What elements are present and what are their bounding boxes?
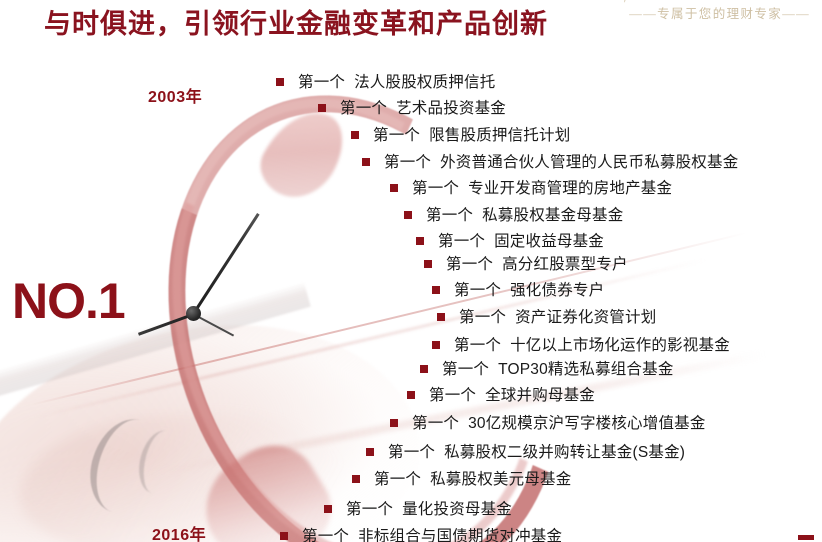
achievement-rank-label: 第一个 bbox=[459, 305, 506, 327]
achievement-row: 第一个私募股权基金母基金 bbox=[404, 203, 623, 225]
achievement-rank-label: 第一个 bbox=[454, 278, 501, 300]
achievement-rank-label: 第一个 bbox=[442, 357, 489, 379]
bullet-square-icon bbox=[366, 448, 374, 456]
achievement-text: 艺术品投资基金 bbox=[396, 96, 506, 118]
achievement-rank-label: 第一个 bbox=[412, 411, 459, 433]
achievement-row: 第一个私募股权美元母基金 bbox=[352, 467, 571, 489]
corner-accent-mark bbox=[798, 535, 814, 540]
bullet-square-icon bbox=[390, 419, 398, 427]
achievement-text: 全球并购母基金 bbox=[485, 383, 595, 405]
achievement-text: 法人股股权质押信托 bbox=[354, 70, 495, 92]
achievement-text: 30亿规模京沪写字楼核心增值基金 bbox=[468, 411, 705, 433]
bullet-square-icon bbox=[432, 286, 440, 294]
achievement-row: 第一个外资普通合伙人管理的人民币私募股权基金 bbox=[362, 150, 738, 172]
achievement-text: 非标组合与国债期货对冲基金 bbox=[358, 524, 562, 542]
bullet-square-icon bbox=[324, 505, 332, 513]
achievement-row: 第一个固定收益母基金 bbox=[416, 229, 604, 251]
bullet-square-icon bbox=[437, 313, 445, 321]
achievement-row: 第一个私募股权二级并购转让基金(S基金) bbox=[366, 440, 685, 462]
achievement-rank-label: 第一个 bbox=[454, 333, 501, 355]
achievement-rank-label: 第一个 bbox=[384, 150, 431, 172]
achievement-text: 强化债券专户 bbox=[510, 278, 604, 300]
achievement-text: 外资普通合伙人管理的人民币私募股权基金 bbox=[440, 150, 738, 172]
achievement-row: 第一个法人股股权质押信托 bbox=[276, 70, 495, 92]
achievement-rank-label: 第一个 bbox=[302, 524, 349, 542]
achievement-row: 第一个30亿规模京沪写字楼核心增值基金 bbox=[390, 411, 706, 433]
achievement-rank-label: 第一个 bbox=[374, 467, 421, 489]
achievement-rank-label: 第一个 bbox=[446, 252, 493, 274]
bullet-square-icon bbox=[404, 211, 412, 219]
achievement-rank-label: 第一个 bbox=[388, 440, 435, 462]
achievement-list: 第一个法人股股权质押信托第一个艺术品投资基金第一个限售股质押信托计划第一个外资普… bbox=[0, 0, 822, 542]
bullet-square-icon bbox=[280, 532, 288, 540]
achievement-rank-label: 第一个 bbox=[373, 123, 420, 145]
achievement-row: 第一个限售股质押信托计划 bbox=[351, 123, 570, 145]
bullet-square-icon bbox=[351, 131, 359, 139]
achievement-text: 私募股权二级并购转让基金(S基金) bbox=[444, 440, 685, 462]
bullet-square-icon bbox=[390, 184, 398, 192]
achievement-text: TOP30精选私募组合基金 bbox=[498, 357, 673, 379]
achievement-text: 固定收益母基金 bbox=[494, 229, 604, 251]
achievement-row: 第一个艺术品投资基金 bbox=[318, 96, 506, 118]
bullet-square-icon bbox=[276, 78, 284, 86]
achievement-text: 专业开发商管理的房地产基金 bbox=[468, 176, 672, 198]
achievement-row: 第一个全球并购母基金 bbox=[407, 383, 595, 405]
achievement-row: 第一个非标组合与国债期货对冲基金 bbox=[280, 524, 562, 542]
achievement-rank-label: 第一个 bbox=[340, 96, 387, 118]
achievement-text: 私募股权美元母基金 bbox=[430, 467, 571, 489]
bullet-square-icon bbox=[424, 260, 432, 268]
achievement-rank-label: 第一个 bbox=[298, 70, 345, 92]
achievement-row: 第一个高分红股票型专户 bbox=[424, 252, 628, 274]
achievement-rank-label: 第一个 bbox=[429, 383, 476, 405]
bullet-square-icon bbox=[318, 104, 326, 112]
achievement-rank-label: 第一个 bbox=[412, 176, 459, 198]
achievement-text: 限售股质押信托计划 bbox=[429, 123, 570, 145]
achievement-text: 量化投资母基金 bbox=[402, 497, 512, 519]
achievement-row: 第一个量化投资母基金 bbox=[324, 497, 512, 519]
bullet-square-icon bbox=[416, 237, 424, 245]
achievement-row: 第一个专业开发商管理的房地产基金 bbox=[390, 176, 672, 198]
achievement-row: 第一个资产证券化资管计划 bbox=[437, 305, 656, 327]
bullet-square-icon bbox=[407, 391, 415, 399]
bullet-square-icon bbox=[432, 341, 440, 349]
achievement-text: 十亿以上市场化运作的影视基金 bbox=[510, 333, 730, 355]
achievement-row: 第一个TOP30精选私募组合基金 bbox=[420, 357, 674, 379]
achievement-text: 资产证券化资管计划 bbox=[515, 305, 656, 327]
bullet-square-icon bbox=[362, 158, 370, 166]
achievement-text: 高分红股票型专户 bbox=[502, 252, 628, 274]
achievement-rank-label: 第一个 bbox=[346, 497, 393, 519]
slide-canvas: 与时俱进，引领行业金融变革和产品创新 ′ ——专属于您的理财专家—— NO.1 … bbox=[0, 0, 822, 542]
achievement-rank-label: 第一个 bbox=[438, 229, 485, 251]
achievement-row: 第一个十亿以上市场化运作的影视基金 bbox=[432, 333, 730, 355]
bullet-square-icon bbox=[352, 475, 360, 483]
achievement-rank-label: 第一个 bbox=[426, 203, 473, 225]
achievement-row: 第一个强化债券专户 bbox=[432, 278, 604, 300]
achievement-text: 私募股权基金母基金 bbox=[482, 203, 623, 225]
bullet-square-icon bbox=[420, 365, 428, 373]
